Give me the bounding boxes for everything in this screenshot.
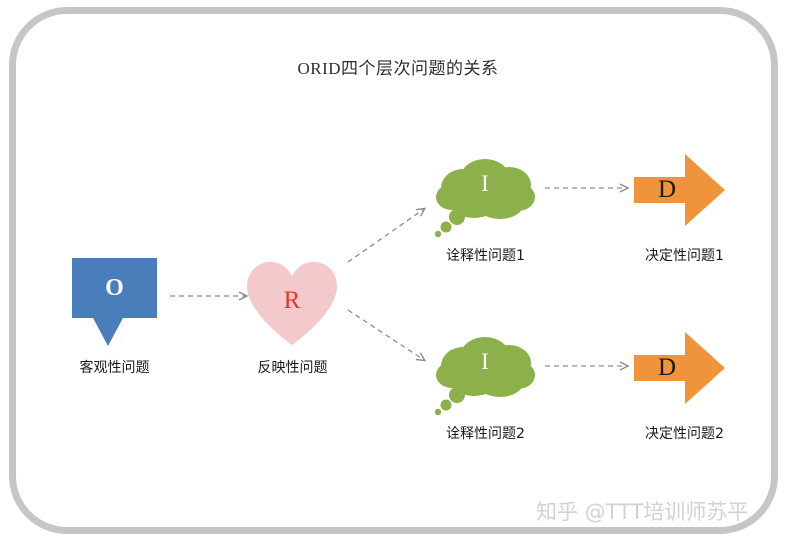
- node-letter-i1: I: [430, 155, 540, 213]
- node-letter-i2: I: [430, 333, 540, 391]
- speech-bubble-tail-icon: [93, 318, 123, 346]
- node-letter-o: O: [72, 258, 157, 318]
- node-label-i2: 诠释性问题2: [403, 423, 568, 443]
- node-letter-d2: D: [632, 328, 702, 408]
- node-label-d2: 决定性问题2: [602, 423, 767, 443]
- block-arrow-d2: D: [632, 328, 727, 408]
- node-label-o: 客观性问题: [32, 357, 197, 377]
- node-label-i1: 诠释性问题1: [403, 245, 568, 265]
- block-arrow-d1: D: [632, 150, 727, 230]
- node-label-r: 反映性问题: [210, 357, 375, 377]
- page-title: ORID四个层次问题的关系: [0, 54, 796, 79]
- node-label-d1: 决定性问题1: [602, 245, 767, 265]
- thought-cloud-i2: I: [430, 333, 540, 418]
- diagram-canvas: ORID四个层次问题的关系 O 客观性问题 R 反映性问题: [0, 0, 796, 547]
- node-letter-r: R: [243, 266, 341, 336]
- watermark-text: 知乎 @TTT培训师苏平: [536, 496, 748, 526]
- thought-cloud-i1: I: [430, 155, 540, 240]
- node-letter-d1: D: [632, 150, 702, 230]
